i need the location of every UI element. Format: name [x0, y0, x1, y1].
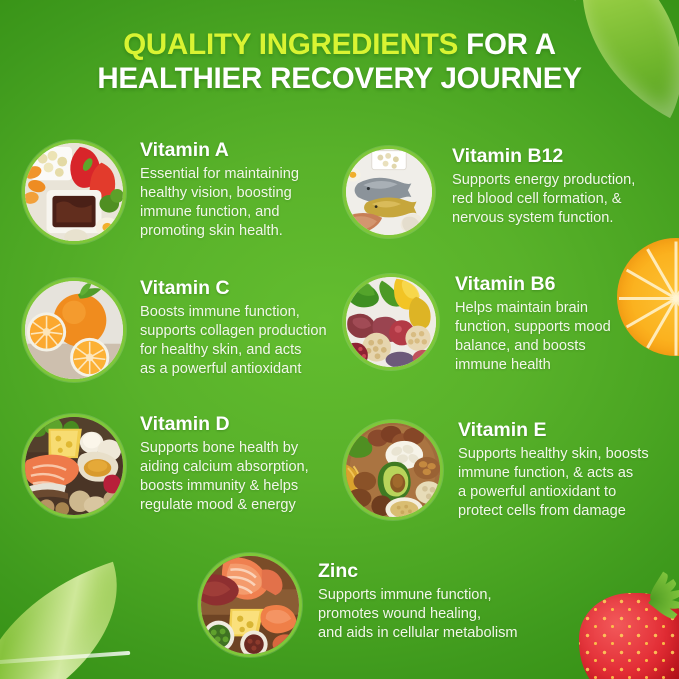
ingredient-thumbnail-vitamin-c [22, 278, 126, 382]
ingredient-title: Vitamin C [140, 278, 327, 298]
ingredient-title: Vitamin E [458, 420, 649, 440]
ingredients-infographic: QUALITY INGREDIENTS FOR A HEALTHIER RECO… [0, 0, 679, 679]
ingredient-card-vitamin-b6: Vitamin B6 Helps maintain brain function… [343, 274, 611, 375]
ingredient-thumbnail-vitamin-a [22, 140, 126, 244]
ingredient-description: Essential for maintaining healthy vision… [140, 165, 299, 241]
ingredient-card-zinc: Zinc Supports immune function, promotes … [198, 553, 518, 657]
ingredient-title: Vitamin B12 [452, 146, 635, 166]
title-rest: FOR A [458, 28, 556, 61]
ingredient-thumbnail-zinc [198, 553, 302, 657]
ingredient-title: Vitamin B6 [455, 274, 611, 294]
title-highlight: QUALITY INGREDIENTS [123, 28, 458, 61]
ingredient-description: Boosts immune function, supports collage… [140, 303, 327, 379]
ingredient-description: Supports energy production, red blood ce… [452, 171, 635, 228]
strawberry-bottom-right-icon [579, 579, 679, 679]
ingredient-card-vitamin-a: Vitamin A Essential for maintaining heal… [22, 140, 299, 244]
page-title: QUALITY INGREDIENTS FOR A HEALTHIER RECO… [0, 28, 679, 96]
ingredient-title: Vitamin D [140, 414, 309, 434]
ingredient-card-vitamin-b12: Vitamin B12 Supports energy production, … [343, 146, 635, 238]
ingredient-thumbnail-vitamin-b12 [343, 146, 435, 238]
ingredient-card-vitamin-c: Vitamin C Boosts immune function, suppor… [22, 278, 327, 382]
ingredient-description: Helps maintain brain function, supports … [455, 299, 611, 375]
ingredient-title: Zinc [318, 561, 518, 581]
ingredient-thumbnail-vitamin-b6 [343, 274, 439, 370]
ingredient-card-vitamin-d: Vitamin D Supports bone health by aiding… [22, 414, 309, 518]
title-line-2: HEALTHIER RECOVERY JOURNEY [0, 62, 679, 96]
ingredient-description: Supports bone health by aiding calcium a… [140, 439, 309, 515]
ingredient-description: Supports immune function, promotes wound… [318, 586, 518, 643]
ingredient-title: Vitamin A [140, 140, 299, 160]
ingredient-description: Supports healthy skin, boosts immune fun… [458, 445, 649, 521]
leaf-bottom-left-icon [0, 562, 148, 679]
orange-slice-right-icon [617, 238, 679, 356]
ingredient-card-vitamin-e: Vitamin E Supports healthy skin, boosts … [343, 420, 649, 521]
ingredient-thumbnail-vitamin-e [343, 420, 443, 520]
ingredient-thumbnail-vitamin-d [22, 414, 126, 518]
